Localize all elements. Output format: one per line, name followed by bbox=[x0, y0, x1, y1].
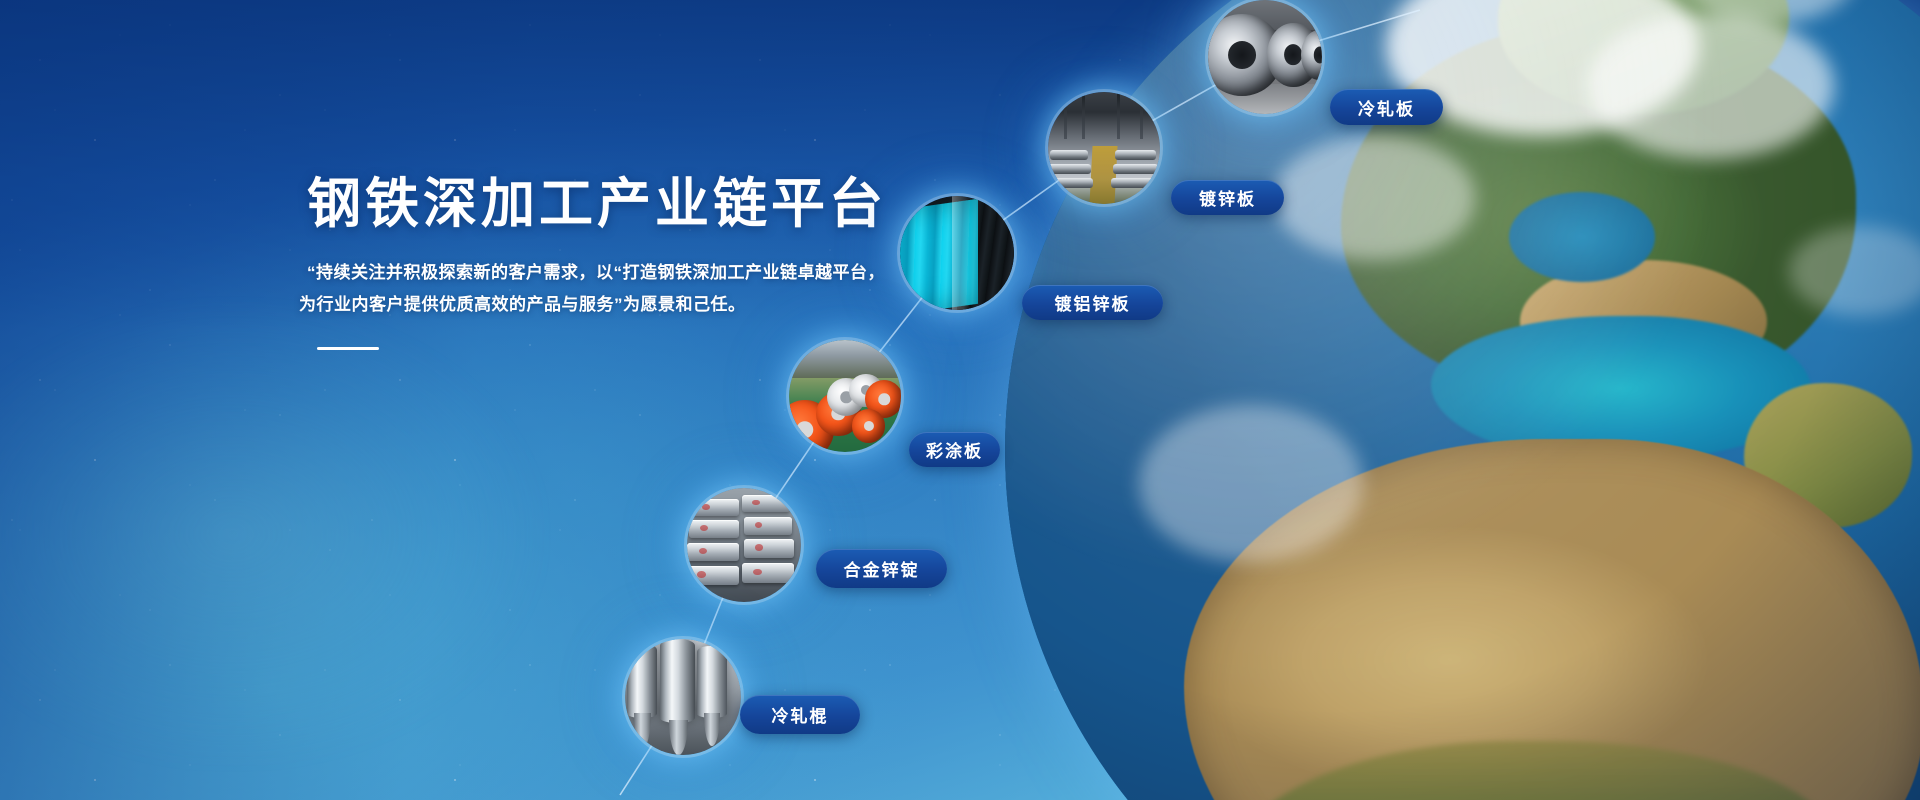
subtitle-line-2: 为行业内客户提供优质高效的产品与服务”为愿景和己任。 bbox=[299, 289, 887, 321]
product-label-cold-roll[interactable]: 冷轧棍 bbox=[740, 695, 860, 734]
earth-cloud-2 bbox=[1587, 13, 1833, 159]
zinc-ingot-icon[interactable] bbox=[687, 488, 801, 602]
subtitle-line-1: “持续关注并积极探索新的客户需求，以“打造钢铁深加工产业链卓越平台， bbox=[307, 257, 887, 289]
earth-cloud-3 bbox=[1274, 136, 1476, 259]
aluzinc-coil-icon[interactable] bbox=[900, 196, 1014, 310]
cold-roll-icon[interactable] bbox=[625, 639, 741, 755]
hero-banner: 钢铁深加工产业链平台 “持续关注并积极探索新的客户需求，以“打造钢铁深加工产业链… bbox=[0, 0, 1920, 800]
galvanized-warehouse-icon[interactable] bbox=[1048, 92, 1160, 204]
color-coated-coil-icon[interactable] bbox=[789, 340, 901, 452]
earth-black-sea bbox=[1509, 192, 1655, 282]
title-divider bbox=[317, 347, 379, 350]
earth-cloud-5 bbox=[1139, 405, 1363, 562]
banner-subtitle: “持续关注并积极探索新的客户需求，以“打造钢铁深加工产业链卓越平台， 为行业内客… bbox=[307, 257, 887, 321]
product-label-color-coated-sheet[interactable]: 彩涂板 bbox=[909, 432, 1000, 467]
product-label-cold-rolled-sheet[interactable]: 冷轧板 bbox=[1330, 89, 1443, 125]
earth-cloud-6 bbox=[1789, 226, 1920, 316]
product-label-galvanized-sheet[interactable]: 镀锌板 bbox=[1171, 180, 1284, 215]
product-label-zinc-alloy-ingot[interactable]: 合金锌锭 bbox=[816, 549, 947, 588]
product-label-aluzinc-sheet[interactable]: 镀铝锌板 bbox=[1022, 285, 1163, 320]
steel-coil-icon[interactable] bbox=[1208, 0, 1322, 114]
